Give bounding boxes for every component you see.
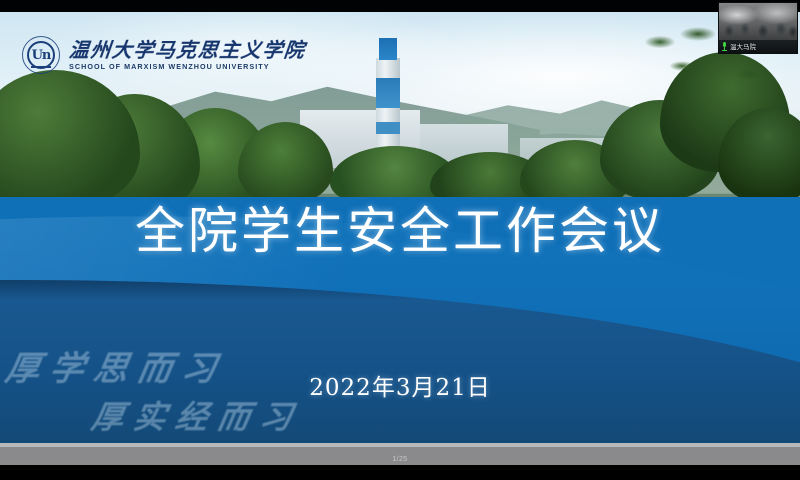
letterbox-bar-bottom bbox=[0, 465, 800, 480]
presentation-slide: 厚学思而习 厚实经而习 Un 温州大学马克思主义学院 SCHOOL OF MAR… bbox=[0, 12, 800, 443]
letterbox-bar-top bbox=[0, 0, 800, 12]
tower-shaft bbox=[376, 58, 400, 158]
participant-label: 温大马院 bbox=[721, 42, 756, 51]
institution-names: 温州大学马克思主义学院 SCHOOL OF MARXISM WENZHOU UN… bbox=[69, 39, 306, 72]
institution-lockup: Un 温州大学马克思主义学院 SCHOOL OF MARXISM WENZHOU… bbox=[22, 36, 306, 74]
campus-clock-tower bbox=[366, 38, 410, 158]
playback-progress-track[interactable] bbox=[0, 443, 800, 447]
screen-share-player: 厚学思而习 厚实经而习 Un 温州大学马克思主义学院 SCHOOL OF MAR… bbox=[0, 0, 800, 480]
slide-date: 2022年3月21日 bbox=[0, 374, 800, 402]
participant-name: 温大马院 bbox=[730, 43, 756, 51]
participant-video-audience bbox=[719, 17, 797, 41]
slide-headline: 全院学生安全工作会议 bbox=[0, 202, 800, 260]
slide-counter: 1/25 bbox=[0, 456, 800, 463]
tower-band-upper bbox=[376, 78, 400, 108]
seal-monogram: Un bbox=[22, 36, 60, 74]
institution-name-cn: 温州大学马克思主义学院 bbox=[68, 39, 307, 61]
tower-band-lower bbox=[376, 122, 400, 134]
seal-underbar bbox=[31, 66, 51, 67]
tower-cap bbox=[379, 38, 397, 60]
university-seal-icon: Un bbox=[22, 36, 60, 74]
institution-name-en: SCHOOL OF MARXISM WENZHOU UNIVERSITY bbox=[69, 62, 306, 72]
microphone-icon bbox=[721, 42, 728, 51]
participant-video-tile[interactable]: 温大马院 bbox=[718, 2, 798, 54]
